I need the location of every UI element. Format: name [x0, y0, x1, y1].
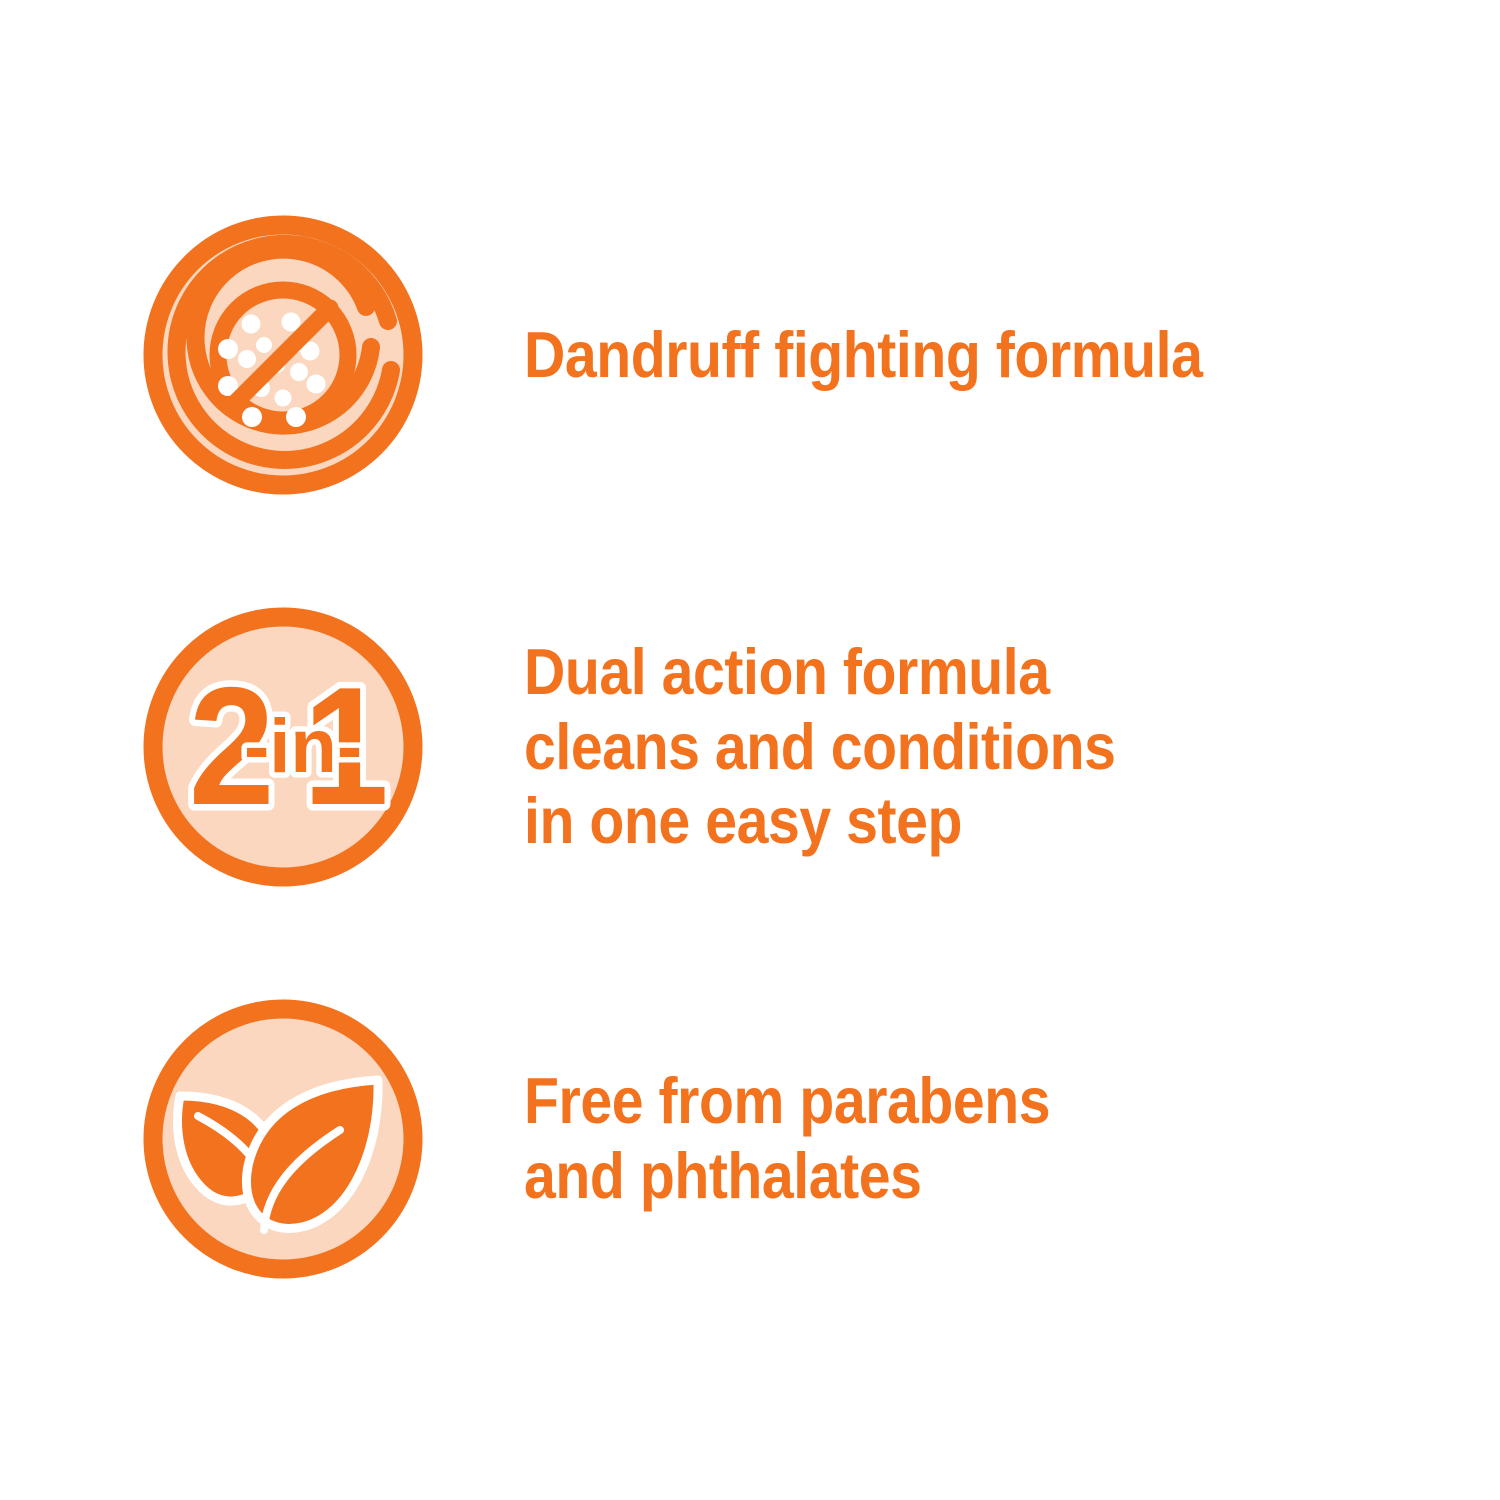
- feature-text-two-in-one: Dual action formula cleans and condition…: [524, 635, 1115, 859]
- two-in-one-badge-icon: 2 1 -in-: [140, 604, 426, 890]
- feature-row-dandruff: Dandruff fighting formula: [140, 212, 1295, 498]
- badge-in-label: -in-: [244, 704, 362, 789]
- product-benefits-panel: Dandruff fighting formula 2 1 -in- Dual …: [0, 0, 1500, 1500]
- feature-text-dandruff: Dandruff fighting formula: [524, 318, 1202, 393]
- leaves-natural-icon: [140, 996, 426, 1282]
- feature-row-free-from: Free from parabens and phthalates: [140, 996, 1122, 1282]
- no-dandruff-flakes-icon: [140, 212, 426, 498]
- feature-text-free-from: Free from parabens and phthalates: [524, 1064, 1050, 1214]
- feature-row-two-in-one: 2 1 -in- Dual action formula cleans and …: [140, 604, 1196, 890]
